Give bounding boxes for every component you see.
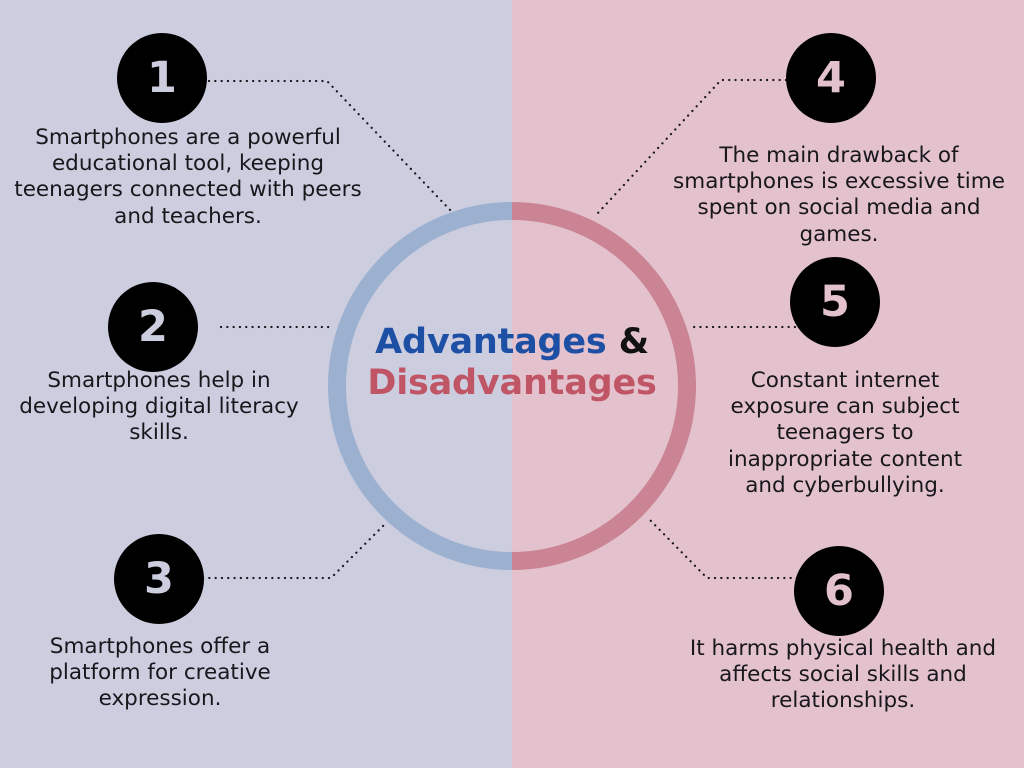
item-text-1: Smartphones are a powerful educational t… <box>0 125 376 230</box>
item-text-2: Smartphones help in developing digital l… <box>0 368 318 447</box>
title-ampersand: & <box>619 322 649 362</box>
item-text-5: Constant internet exposure can subject t… <box>668 368 1022 499</box>
badge-number-label: 6 <box>824 570 854 613</box>
badge-number-label: 3 <box>144 558 174 601</box>
badge-number-label: 1 <box>147 57 177 100</box>
title-disadvantages: Disadvantages <box>348 363 676 404</box>
number-badge-3[interactable]: 3 <box>114 534 204 624</box>
item-text-4: The main drawback of smartphones is exce… <box>655 143 1023 248</box>
number-badge-2[interactable]: 2 <box>108 282 198 372</box>
number-badge-1[interactable]: 1 <box>117 33 207 123</box>
badge-number-label: 5 <box>820 281 850 324</box>
center-title: Advantages & Disadvantages <box>348 322 676 405</box>
title-advantages: Advantages <box>375 322 606 362</box>
badge-number-label: 2 <box>138 306 168 349</box>
number-badge-4[interactable]: 4 <box>786 33 876 123</box>
number-badge-6[interactable]: 6 <box>794 546 884 636</box>
item-text-3: Smartphones offer a platform for creativ… <box>0 634 320 713</box>
infographic-canvas: Advantages & Disadvantages 1 2 3 4 5 6 S… <box>0 0 1024 768</box>
badge-number-label: 4 <box>816 57 846 100</box>
item-text-6: It harms physical health and affects soc… <box>665 636 1021 715</box>
number-badge-5[interactable]: 5 <box>790 257 880 347</box>
